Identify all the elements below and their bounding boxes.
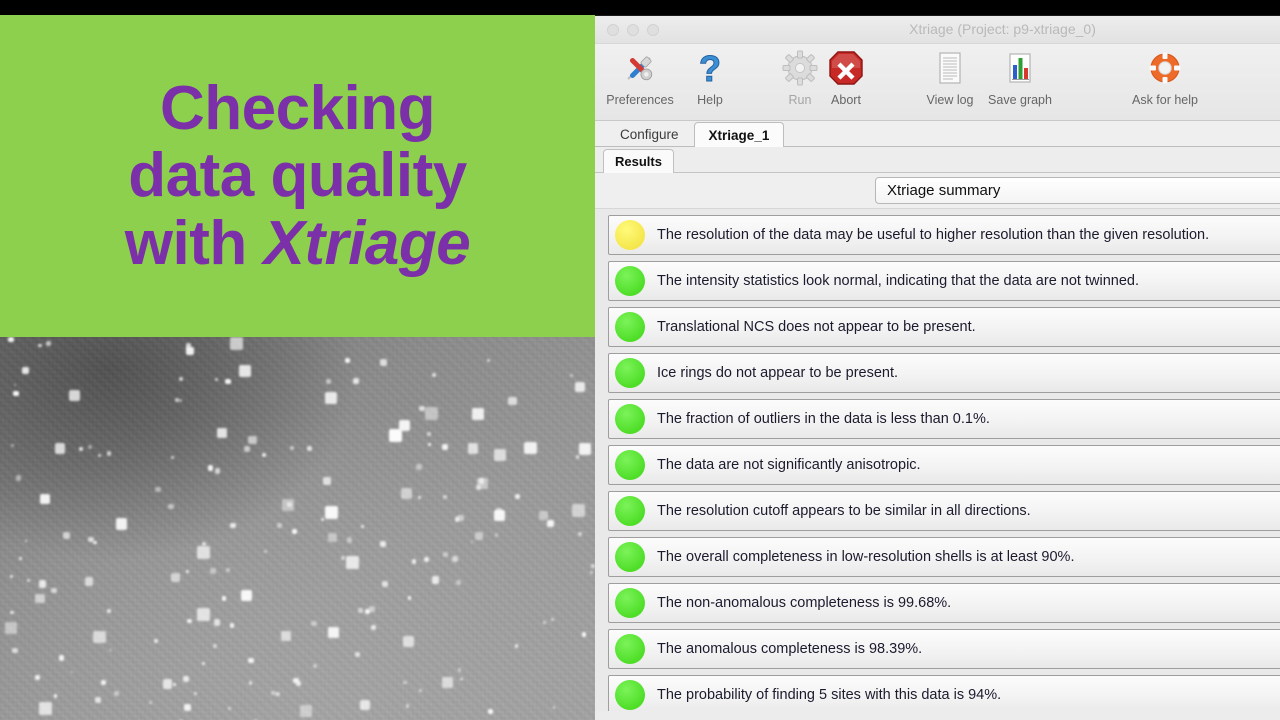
diffraction-spot bbox=[46, 341, 51, 346]
diffraction-spot bbox=[428, 443, 431, 446]
diffraction-spot bbox=[69, 390, 80, 401]
diffraction-spot bbox=[226, 568, 230, 572]
result-text: The data are not significantly anisotrop… bbox=[657, 457, 921, 473]
diffraction-spot bbox=[300, 705, 312, 717]
diffraction-spot bbox=[88, 445, 92, 449]
diffraction-spot bbox=[230, 337, 243, 350]
diffraction-spot bbox=[460, 678, 463, 681]
result-row[interactable]: Ice rings do not appear to be present. bbox=[608, 353, 1280, 393]
result-row[interactable]: The overall completeness in low-resoluti… bbox=[608, 537, 1280, 577]
diffraction-spot bbox=[19, 557, 22, 560]
result-text: The intensity statistics look normal, in… bbox=[657, 273, 1139, 289]
help-button[interactable]: ? Help bbox=[673, 46, 747, 118]
diffraction-spot bbox=[495, 533, 499, 537]
status-indicator-green bbox=[615, 634, 645, 664]
diffraction-spot bbox=[173, 683, 176, 686]
window-title: Xtriage (Project: p9-xtriage_0) bbox=[595, 21, 1280, 37]
diffraction-spot bbox=[202, 662, 205, 665]
preferences-label: Preferences bbox=[606, 93, 673, 107]
diffraction-spot bbox=[109, 649, 112, 652]
diffraction-spot bbox=[217, 428, 227, 438]
diffraction-spot bbox=[95, 697, 101, 703]
slide-title-emphasis: Xtriage bbox=[264, 209, 471, 278]
diffraction-spot bbox=[401, 488, 412, 499]
diffraction-spot bbox=[51, 588, 56, 593]
diffraction-spot bbox=[63, 532, 70, 539]
diffraction-spot bbox=[456, 580, 462, 586]
status-indicator-green bbox=[615, 680, 645, 710]
diffraction-spot bbox=[186, 347, 194, 355]
diffraction-spot bbox=[27, 579, 30, 582]
diffraction-spot bbox=[403, 681, 407, 685]
status-indicator-green bbox=[615, 450, 645, 480]
diffraction-spot bbox=[488, 709, 492, 713]
diffraction-spot bbox=[101, 680, 106, 685]
diffraction-spot bbox=[371, 625, 377, 631]
diffraction-spot bbox=[547, 520, 554, 527]
diffraction-spot bbox=[412, 559, 417, 564]
life-ring-icon bbox=[1145, 46, 1185, 90]
diffraction-spot bbox=[282, 499, 294, 511]
diffraction-spot bbox=[230, 523, 236, 529]
diffraction-spot bbox=[358, 608, 363, 613]
diffraction-spot bbox=[222, 596, 226, 600]
diffraction-spot bbox=[427, 432, 431, 436]
diffraction-spot bbox=[8, 337, 13, 342]
summary-combo-value: Xtriage summary bbox=[887, 182, 1000, 199]
result-row[interactable]: Translational NCS does not appear to be … bbox=[608, 307, 1280, 347]
diffraction-spot bbox=[187, 619, 192, 624]
window-titlebar: Xtriage (Project: p9-xtriage_0) bbox=[595, 16, 1280, 44]
ask-for-help-button[interactable]: Ask for help bbox=[1110, 46, 1220, 118]
diffraction-spot bbox=[248, 658, 254, 664]
diffraction-spot bbox=[54, 694, 58, 698]
question-mark-icon: ? bbox=[690, 46, 730, 90]
diffraction-spot bbox=[355, 652, 360, 657]
diffraction-spot bbox=[16, 475, 21, 480]
view-log-button[interactable]: View log bbox=[913, 46, 987, 118]
diffraction-spot bbox=[496, 508, 502, 514]
view-log-label: View log bbox=[926, 93, 973, 107]
slide-title-line-2: data quality bbox=[128, 144, 467, 207]
diffraction-spot bbox=[264, 550, 267, 553]
diffraction-spot bbox=[13, 391, 18, 396]
diffraction-spot bbox=[275, 692, 280, 697]
diffraction-spot bbox=[326, 379, 331, 384]
diffraction-spot bbox=[225, 379, 230, 384]
result-text: The anomalous completeness is 98.39%. bbox=[657, 641, 922, 657]
diffraction-spot bbox=[432, 576, 440, 584]
tab-xtriage-1[interactable]: Xtriage_1 bbox=[694, 122, 785, 147]
diffraction-spot bbox=[107, 451, 112, 456]
diffraction-spot bbox=[93, 631, 105, 643]
summary-selector-row: Xtriage summary bbox=[595, 173, 1280, 209]
status-indicator-yellow bbox=[615, 220, 645, 250]
diffraction-spot bbox=[353, 378, 359, 384]
diffraction-spot bbox=[323, 477, 331, 485]
summary-combo-box[interactable]: Xtriage summary bbox=[875, 177, 1280, 204]
diffraction-spot bbox=[277, 523, 282, 528]
diffraction-spot bbox=[197, 608, 210, 621]
diffraction-spot bbox=[262, 453, 266, 457]
diffraction-spot bbox=[524, 442, 537, 455]
diffraction-spot bbox=[208, 465, 214, 471]
bar-chart-icon bbox=[1000, 46, 1040, 90]
diffraction-spot bbox=[38, 344, 41, 347]
tab-configure[interactable]: Configure bbox=[605, 121, 694, 146]
diffraction-spot bbox=[154, 639, 158, 643]
diffraction-spot bbox=[215, 468, 220, 473]
screenshot-root: Checking data quality with Xtriage Xtria… bbox=[0, 0, 1280, 720]
diffraction-spot bbox=[179, 399, 182, 402]
diffraction-spot bbox=[241, 590, 252, 601]
save-graph-label: Save graph bbox=[988, 93, 1052, 107]
diffraction-spot bbox=[424, 557, 429, 562]
diffraction-spot bbox=[325, 392, 337, 404]
diffraction-spot bbox=[214, 619, 220, 625]
diffraction-spot bbox=[347, 537, 353, 543]
diffraction-spot bbox=[416, 464, 422, 470]
diffraction-spot bbox=[380, 541, 386, 547]
sub-tab-strip: Results bbox=[595, 147, 1280, 173]
slide-title-line-3-prefix: with bbox=[125, 209, 264, 278]
presentation-slide: Checking data quality with Xtriage bbox=[0, 15, 595, 720]
diffraction-spot bbox=[85, 577, 93, 585]
diffraction-spot bbox=[171, 456, 174, 459]
diffraction-spot bbox=[432, 373, 436, 377]
diffraction-spot bbox=[55, 443, 66, 454]
slide-title-block: Checking data quality with Xtriage bbox=[0, 15, 595, 337]
diffraction-spot bbox=[455, 517, 459, 521]
diffraction-spot bbox=[443, 495, 447, 499]
diffraction-spot bbox=[183, 676, 189, 682]
subtab-results[interactable]: Results bbox=[603, 149, 674, 173]
diffraction-spot bbox=[346, 556, 359, 569]
diffraction-spot bbox=[244, 446, 250, 452]
diffraction-spot bbox=[39, 702, 51, 714]
diffraction-spot bbox=[35, 675, 41, 681]
result-row[interactable]: The probability of finding 5 sites with … bbox=[608, 675, 1280, 711]
diffraction-spot bbox=[406, 704, 410, 708]
diffraction-spot bbox=[116, 518, 128, 530]
diffraction-spot bbox=[419, 689, 422, 692]
diffraction-spot bbox=[452, 556, 458, 562]
diffraction-spot bbox=[239, 365, 251, 377]
result-text: The resolution of the data may be useful… bbox=[657, 227, 1209, 243]
diffraction-spot bbox=[88, 537, 94, 543]
diffraction-spot bbox=[14, 384, 17, 387]
diffraction-spot bbox=[107, 609, 111, 613]
result-text: Ice rings do not appear to be present. bbox=[657, 365, 898, 381]
diffraction-spot bbox=[228, 707, 231, 710]
abort-label: Abort bbox=[831, 93, 861, 107]
diffraction-spot bbox=[475, 532, 483, 540]
diffraction-spot bbox=[418, 496, 421, 499]
slide-title-line-1: Checking bbox=[160, 77, 435, 140]
diffraction-spot bbox=[296, 681, 302, 687]
diffraction-spot bbox=[249, 681, 253, 685]
diffraction-spot bbox=[163, 679, 173, 689]
result-text: The probability of finding 5 sites with … bbox=[657, 687, 1001, 703]
diffraction-spot bbox=[575, 382, 586, 393]
diffraction-spot bbox=[71, 671, 74, 674]
diffraction-spot bbox=[399, 420, 410, 431]
diffraction-spot bbox=[403, 636, 414, 647]
diffraction-spot bbox=[35, 594, 45, 604]
diffraction-spot bbox=[382, 581, 388, 587]
diffraction-spot bbox=[458, 668, 462, 672]
diffraction-spot bbox=[171, 573, 180, 582]
diffraction-spot bbox=[11, 444, 14, 447]
diffraction-spot bbox=[248, 436, 257, 445]
main-toolbar: Preferences ? Help bbox=[595, 44, 1280, 121]
diffraction-spot bbox=[213, 644, 217, 648]
diffraction-spot bbox=[487, 359, 490, 362]
diffraction-spot bbox=[307, 446, 312, 451]
diffraction-spot bbox=[472, 408, 485, 421]
diffraction-spot bbox=[328, 533, 337, 542]
diffraction-spot bbox=[479, 478, 484, 483]
diffraction-spot bbox=[290, 446, 295, 451]
diffraction-spot bbox=[281, 631, 291, 641]
diffraction-spot bbox=[98, 454, 101, 457]
diffraction-spot bbox=[582, 632, 586, 636]
help-label: Help bbox=[697, 93, 723, 107]
diffraction-spot bbox=[590, 571, 593, 574]
diffraction-spot bbox=[39, 580, 46, 587]
abort-button[interactable]: Abort bbox=[809, 46, 883, 118]
result-row[interactable]: The resolution of the data may be useful… bbox=[608, 215, 1280, 255]
stop-octagon-icon bbox=[826, 46, 866, 90]
diffraction-spot bbox=[361, 525, 364, 528]
diffraction-spot bbox=[328, 627, 339, 638]
result-row[interactable]: The non-anomalous completeness is 99.68%… bbox=[608, 583, 1280, 623]
diffraction-spot bbox=[40, 494, 50, 504]
diffraction-spot bbox=[313, 664, 317, 668]
preferences-button[interactable]: Preferences bbox=[603, 46, 677, 118]
status-indicator-green bbox=[615, 312, 645, 342]
diffraction-spot bbox=[321, 518, 324, 521]
diffraction-spot bbox=[543, 621, 546, 624]
diffraction-spot bbox=[468, 443, 478, 453]
slide-title-line-3: with Xtriage bbox=[125, 212, 470, 275]
status-indicator-green bbox=[615, 588, 645, 618]
diffraction-spot bbox=[194, 692, 197, 695]
diffraction-spot bbox=[515, 644, 519, 648]
diffraction-spot bbox=[59, 655, 64, 660]
diffraction-spot bbox=[345, 358, 350, 363]
diffraction-spot bbox=[360, 700, 370, 710]
diffraction-spot bbox=[179, 377, 183, 381]
diffraction-spot bbox=[572, 504, 585, 517]
diffraction-image bbox=[0, 337, 595, 720]
tools-icon bbox=[620, 46, 660, 90]
diffraction-spot bbox=[553, 706, 556, 709]
result-row[interactable]: The data are not significantly anisotrop… bbox=[608, 445, 1280, 485]
diffraction-spot bbox=[155, 487, 161, 493]
result-text: The fraction of outliers in the data is … bbox=[657, 411, 990, 427]
diffraction-spot bbox=[579, 443, 592, 456]
diffraction-spot bbox=[471, 541, 474, 544]
status-indicator-green bbox=[615, 542, 645, 572]
result-text: The resolution cutoff appears to be simi… bbox=[657, 503, 1031, 519]
diffraction-spot bbox=[408, 596, 412, 600]
diffraction-spot bbox=[325, 506, 338, 519]
diffraction-spot bbox=[380, 359, 388, 367]
diffraction-spot bbox=[230, 623, 235, 628]
result-row[interactable]: The fraction of outliers in the data is … bbox=[608, 399, 1280, 439]
diffraction-spot bbox=[197, 546, 210, 559]
save-graph-button[interactable]: Save graph bbox=[983, 46, 1057, 118]
diffraction-spot bbox=[93, 541, 97, 545]
diffraction-spot bbox=[215, 378, 218, 381]
result-text: Translational NCS does not appear to be … bbox=[657, 319, 976, 335]
diffraction-spot bbox=[494, 449, 506, 461]
diffraction-spot bbox=[12, 648, 18, 654]
xtriage-application-window: Xtriage (Project: p9-xtriage_0) bbox=[595, 15, 1280, 720]
diffraction-spot bbox=[168, 504, 174, 510]
diffraction-spot bbox=[210, 568, 216, 574]
diffraction-spot bbox=[341, 556, 345, 560]
diffraction-spot bbox=[425, 407, 438, 420]
status-indicator-green bbox=[615, 358, 645, 388]
diffraction-spot bbox=[570, 374, 573, 377]
diffraction-spot bbox=[114, 691, 119, 696]
diffraction-spot bbox=[10, 611, 14, 615]
diffraction-spot bbox=[442, 444, 448, 450]
result-row[interactable]: The anomalous completeness is 98.39%. bbox=[608, 629, 1280, 669]
status-indicator-green bbox=[615, 404, 645, 434]
diffraction-spot bbox=[25, 540, 28, 543]
diffraction-spot bbox=[79, 447, 83, 451]
svg-text:?: ? bbox=[699, 48, 721, 88]
diffraction-spot bbox=[5, 622, 18, 635]
status-indicator-green bbox=[615, 496, 645, 526]
diffraction-spot bbox=[508, 397, 517, 406]
diffraction-spot bbox=[22, 367, 29, 374]
diffraction-spot bbox=[292, 529, 297, 534]
diffraction-spot bbox=[515, 494, 520, 499]
results-list[interactable]: The resolution of the data may be useful… bbox=[595, 209, 1280, 711]
status-indicator-green bbox=[615, 266, 645, 296]
diffraction-spot bbox=[311, 621, 317, 627]
diffraction-spot bbox=[476, 485, 481, 490]
diffraction-spots bbox=[0, 337, 595, 720]
diffraction-spot bbox=[184, 704, 191, 711]
diffraction-spot bbox=[442, 677, 453, 688]
diffraction-spot bbox=[186, 570, 189, 573]
diffraction-spot bbox=[149, 701, 152, 704]
diffraction-spot bbox=[10, 575, 13, 578]
main-tab-strip: Configure Xtriage_1 bbox=[595, 121, 1280, 147]
diffraction-spot bbox=[539, 511, 548, 520]
result-text: The overall completeness in low-resoluti… bbox=[657, 549, 1074, 565]
result-row[interactable]: The resolution cutoff appears to be simi… bbox=[608, 491, 1280, 531]
diffraction-spot bbox=[576, 455, 580, 459]
diffraction-spot bbox=[443, 552, 448, 557]
result-text: The non-anomalous completeness is 99.68%… bbox=[657, 595, 951, 611]
diffraction-spot bbox=[365, 609, 370, 614]
ask-for-help-label: Ask for help bbox=[1132, 93, 1198, 107]
result-row[interactable]: The intensity statistics look normal, in… bbox=[608, 261, 1280, 301]
diffraction-spot bbox=[551, 618, 554, 621]
diffraction-spot bbox=[578, 532, 582, 536]
document-icon bbox=[930, 46, 970, 90]
